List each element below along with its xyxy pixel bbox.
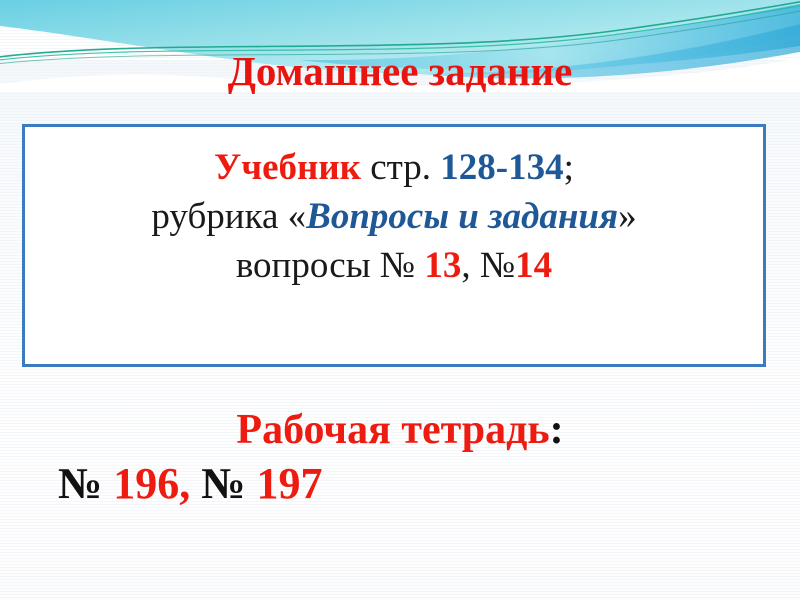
workbook-number-2: 197 [256, 459, 322, 508]
quote-close-mark: » [618, 196, 637, 237]
question-separator: , № [461, 245, 515, 286]
number-sign-2: № [190, 459, 256, 508]
rubric-label: рубрика [151, 196, 287, 237]
workbook-label: Рабочая тетрадь [236, 407, 549, 453]
task-line-rubric: рубрика «Вопросы и задания» [25, 192, 763, 241]
number-sign-1: № [58, 459, 113, 508]
pages-value: 128-134 [440, 147, 563, 188]
question-number-1: 13 [424, 245, 461, 286]
rubric-title: Вопросы и задания [306, 196, 618, 237]
page-title: Домашнее задание [0, 47, 800, 95]
workbook-heading: Рабочая тетрадь: [0, 404, 800, 456]
pages-label: стр. [361, 147, 440, 188]
textbook-label: Учебник [214, 147, 361, 188]
workbook-number-1: 196, [113, 459, 190, 508]
workbook-numbers: № 196, № 197 [0, 456, 800, 512]
workbook-colon: : [550, 407, 564, 453]
questions-label: вопросы № [236, 245, 425, 286]
task-line-questions: вопросы № 13, №14 [25, 241, 763, 290]
task-line-textbook: Учебник стр. 128-134; [25, 143, 763, 192]
quote-open-mark: « [288, 196, 307, 237]
slide-canvas: Домашнее задание Учебник стр. 128-134; р… [0, 0, 800, 600]
semicolon-mark: ; [564, 147, 574, 188]
homework-task-box: Учебник стр. 128-134; рубрика «Вопросы и… [22, 124, 766, 367]
workbook-block: Рабочая тетрадь: № 196, № 197 [0, 404, 800, 512]
question-number-2: 14 [515, 245, 552, 286]
task-box-content: Учебник стр. 128-134; рубрика «Вопросы и… [25, 127, 763, 290]
